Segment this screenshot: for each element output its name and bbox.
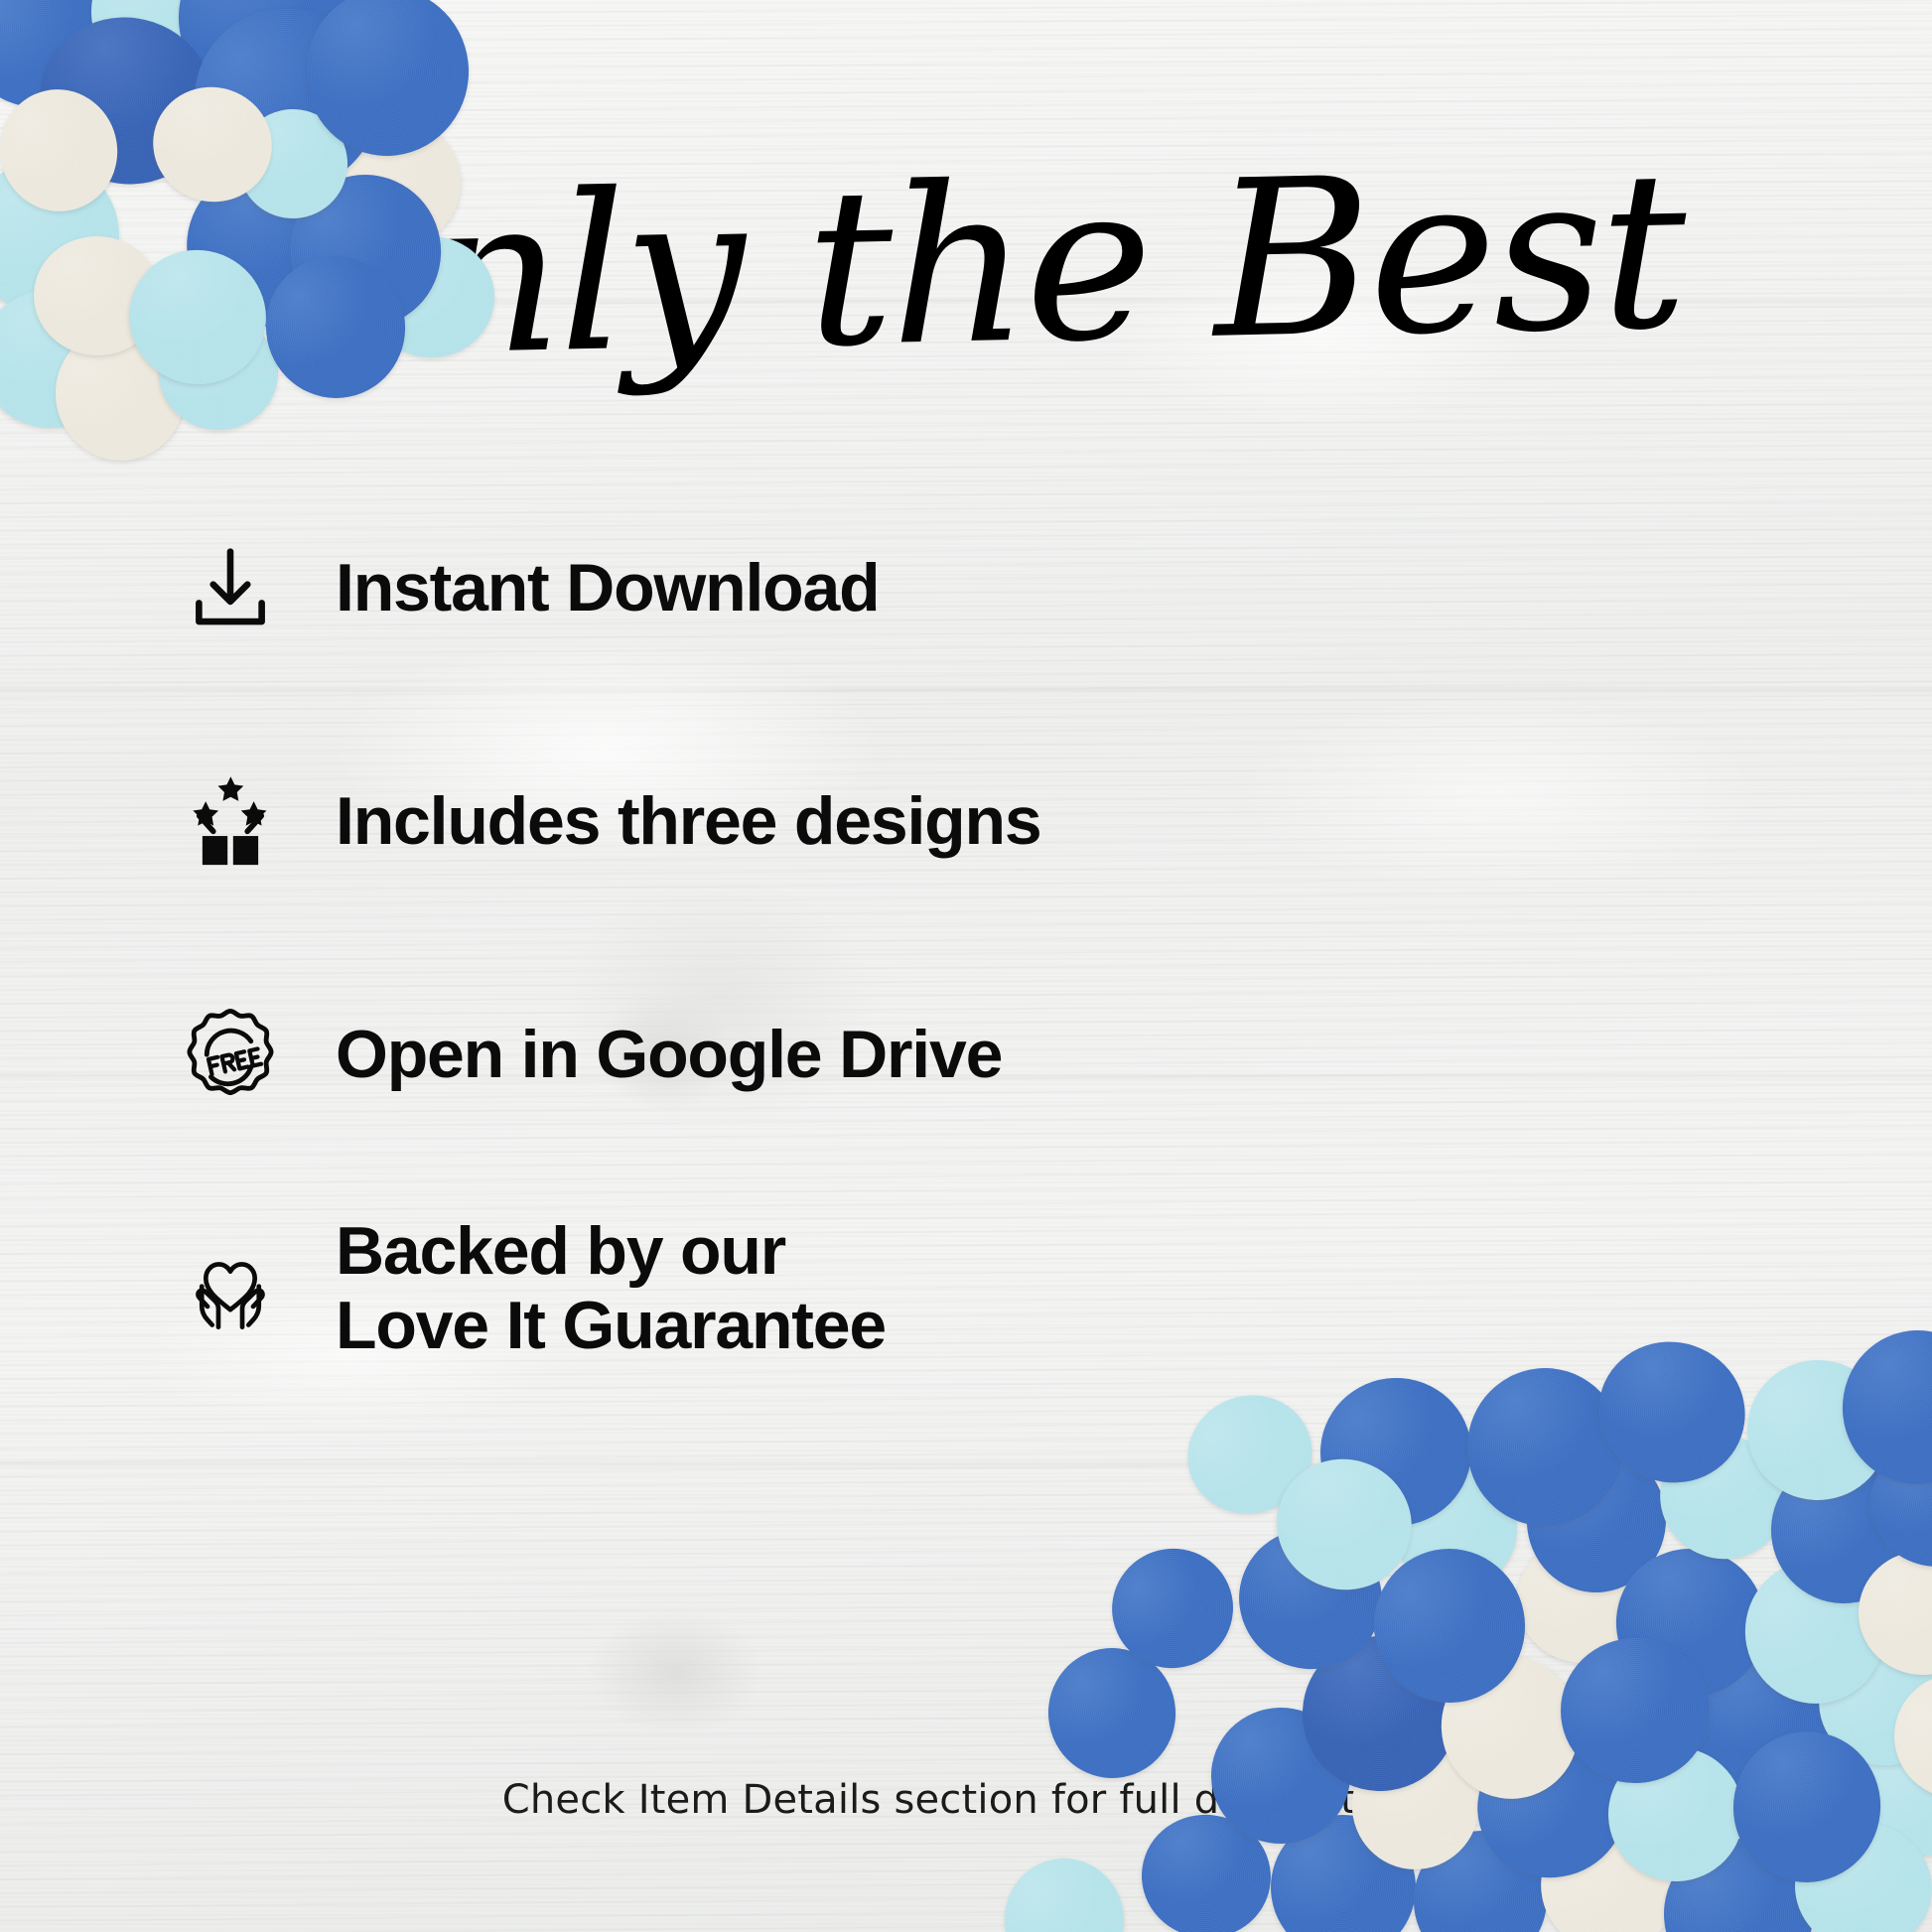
wood-knot (586, 1608, 764, 1737)
product-listing-graphic: Only the Best Instant Download (0, 0, 1932, 1932)
feature-label: Backed by our Love It Guarantee (336, 1214, 886, 1363)
feature-row-instant-download: Instant Download (177, 472, 1467, 705)
footnote-text: Check Item Details section for full desc… (0, 1777, 1932, 1823)
page-title: Only the Best (0, 139, 1932, 396)
feature-label: Open in Google Drive (336, 1018, 1002, 1092)
free-badge-icon (177, 1002, 284, 1109)
feature-list: Instant Download (177, 472, 1467, 1405)
feature-label: Instant Download (336, 551, 879, 625)
feature-row-includes-three-designs: Includes three designs (177, 705, 1467, 938)
download-icon (177, 535, 284, 642)
feature-row-love-it-guarantee: Backed by our Love It Guarantee (177, 1172, 1467, 1405)
feature-label: Includes three designs (336, 784, 1040, 859)
feature-row-open-in-google-drive: Open in Google Drive (177, 938, 1467, 1172)
hands-holding-heart-icon (177, 1235, 284, 1342)
gift-box-stars-icon (177, 768, 284, 876)
